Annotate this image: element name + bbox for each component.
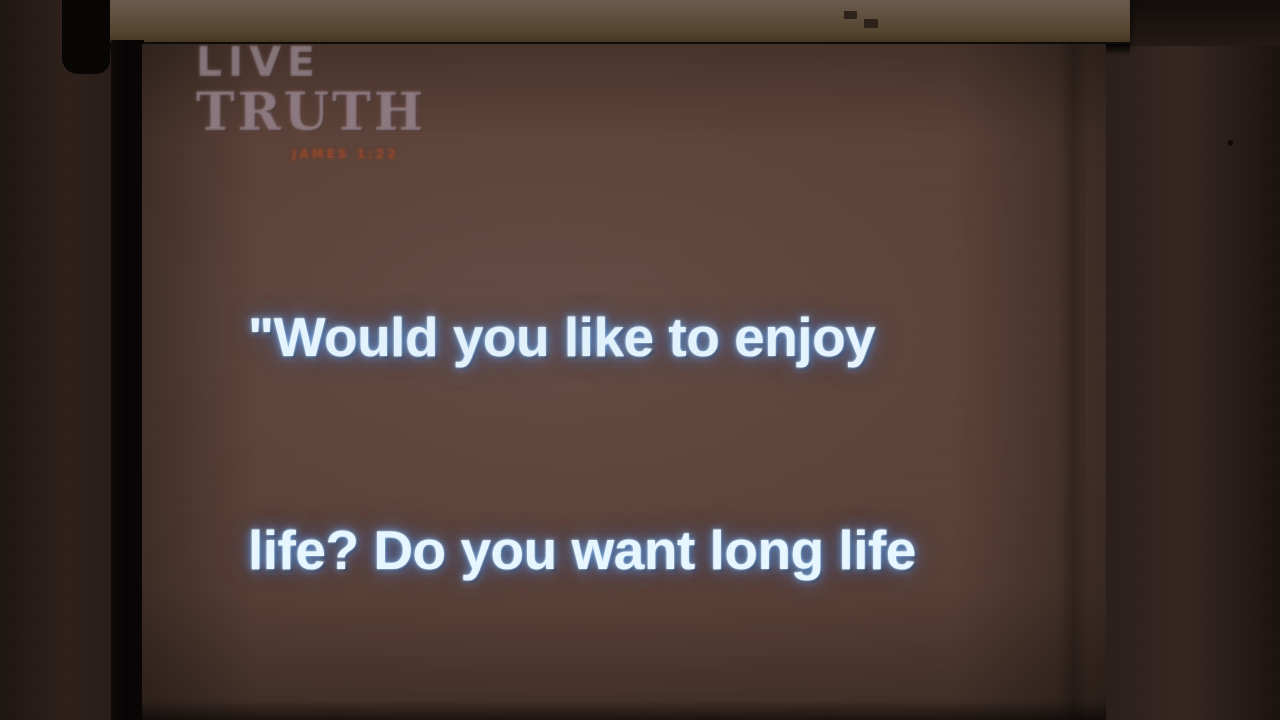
wall-right (1105, 46, 1280, 720)
logo-word-truth: TRUTH (196, 86, 406, 141)
screen-mount-bracket (62, 0, 110, 74)
projected-slide-photo: LIVE TRUTH JAMES 1:22 "Would you like to… (0, 0, 1280, 720)
slide-text-line: life? Do you want long life (248, 515, 1048, 586)
slide-quote-text: "Would you like to enjoy life? Do you wa… (248, 160, 1048, 720)
wall-right-upper (1128, 0, 1280, 48)
screen-left-edge (111, 40, 144, 720)
logo-scripture-ref: JAMES 1:22 (292, 147, 406, 161)
slide-text-line: "Would you like to enjoy (248, 302, 1048, 373)
wall-nail (1228, 140, 1233, 146)
screen-fold-seam (1058, 44, 1086, 720)
logo-word-live: LIVE (196, 42, 406, 83)
live-truth-logo: LIVE TRUTH JAMES 1:22 (196, 42, 406, 161)
wall-left (0, 0, 118, 720)
valance-screw-icon (864, 19, 878, 28)
valance-screw-icon (844, 11, 857, 19)
